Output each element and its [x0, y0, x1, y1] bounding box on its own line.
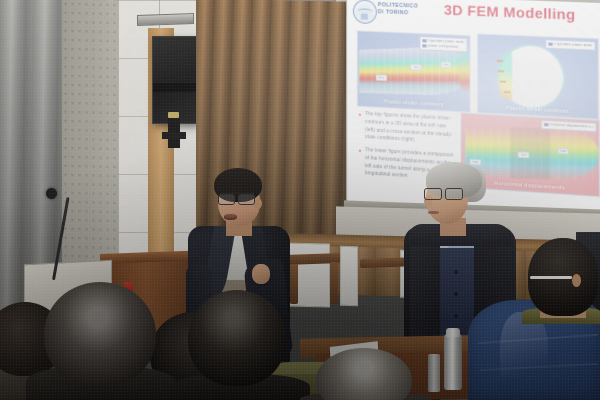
lecture-hall-photo: POLITECNICO DI TORINO 3D FEM Modelling E…	[0, 0, 600, 400]
politecnico-crest-icon	[353, 0, 377, 24]
tunnel-cross-section	[499, 43, 565, 110]
contour-tick	[504, 91, 510, 93]
contour-tick	[498, 70, 504, 72]
institution-line-2: DI TORINO	[378, 9, 409, 16]
legend-swatch-icon	[549, 42, 553, 45]
figure-cross-section: Equivalent plastic strain Plastic strain…	[477, 33, 599, 119]
figure-tag: Time	[410, 64, 421, 71]
acoustic-wall-panel	[62, 0, 122, 286]
hand-gesture	[252, 264, 270, 284]
cardigan-button	[454, 270, 458, 274]
figure-3d-view: Equivalent plastic strain plastic config…	[357, 30, 471, 112]
legend-swatch-icon	[423, 39, 427, 42]
second-flask	[428, 354, 440, 392]
audience-head-left	[44, 282, 156, 386]
figure-caption: Plastic strain contours	[358, 98, 470, 110]
cardigan-button	[454, 314, 458, 318]
mouth	[428, 211, 439, 214]
audience-head-center	[188, 290, 286, 386]
whiteboard-panel	[340, 246, 358, 306]
eyeglasses-icon	[530, 276, 574, 283]
figure-legend: Equivalent plastic strain plastic config…	[420, 36, 468, 53]
thermos-lid	[446, 328, 460, 337]
legend-swatch-icon	[423, 44, 427, 47]
figure-tag: Max	[441, 61, 451, 68]
cardigan-button	[454, 292, 458, 296]
tunnel-end-cap	[458, 48, 470, 94]
eyeglasses-icon	[424, 188, 466, 198]
air-vent-grille-icon	[137, 13, 194, 26]
mesh-rings	[359, 46, 470, 97]
tunnel-3d-mesh	[359, 46, 470, 97]
slide-logo: POLITECNICO DI TORINO	[353, 0, 415, 27]
figure-tag: Step	[376, 74, 387, 81]
speaker-band	[153, 83, 197, 92]
eyeglasses-icon	[218, 194, 258, 203]
mouth-speaking	[224, 214, 237, 220]
figure-tag: Max	[558, 148, 569, 155]
contour-tick	[497, 60, 503, 62]
bench-chair-leg	[330, 262, 338, 304]
thermos-flask	[444, 334, 462, 390]
legend-swatch-icon	[544, 123, 548, 126]
contour-tick	[500, 80, 506, 82]
figure-legend: Equivalent plastic strain	[546, 39, 596, 51]
slide-bullet: The top figures show the plastic strain …	[359, 111, 454, 148]
figure-tag: Time	[518, 151, 530, 158]
speaker-mount-bracket	[168, 118, 180, 148]
puffer-highlight	[500, 312, 548, 398]
slide-title: 3D FEM Modelling	[444, 1, 576, 22]
microphone-capsule-icon	[46, 188, 57, 199]
wall-speaker	[152, 36, 198, 124]
tunnel-shadow	[510, 127, 550, 180]
